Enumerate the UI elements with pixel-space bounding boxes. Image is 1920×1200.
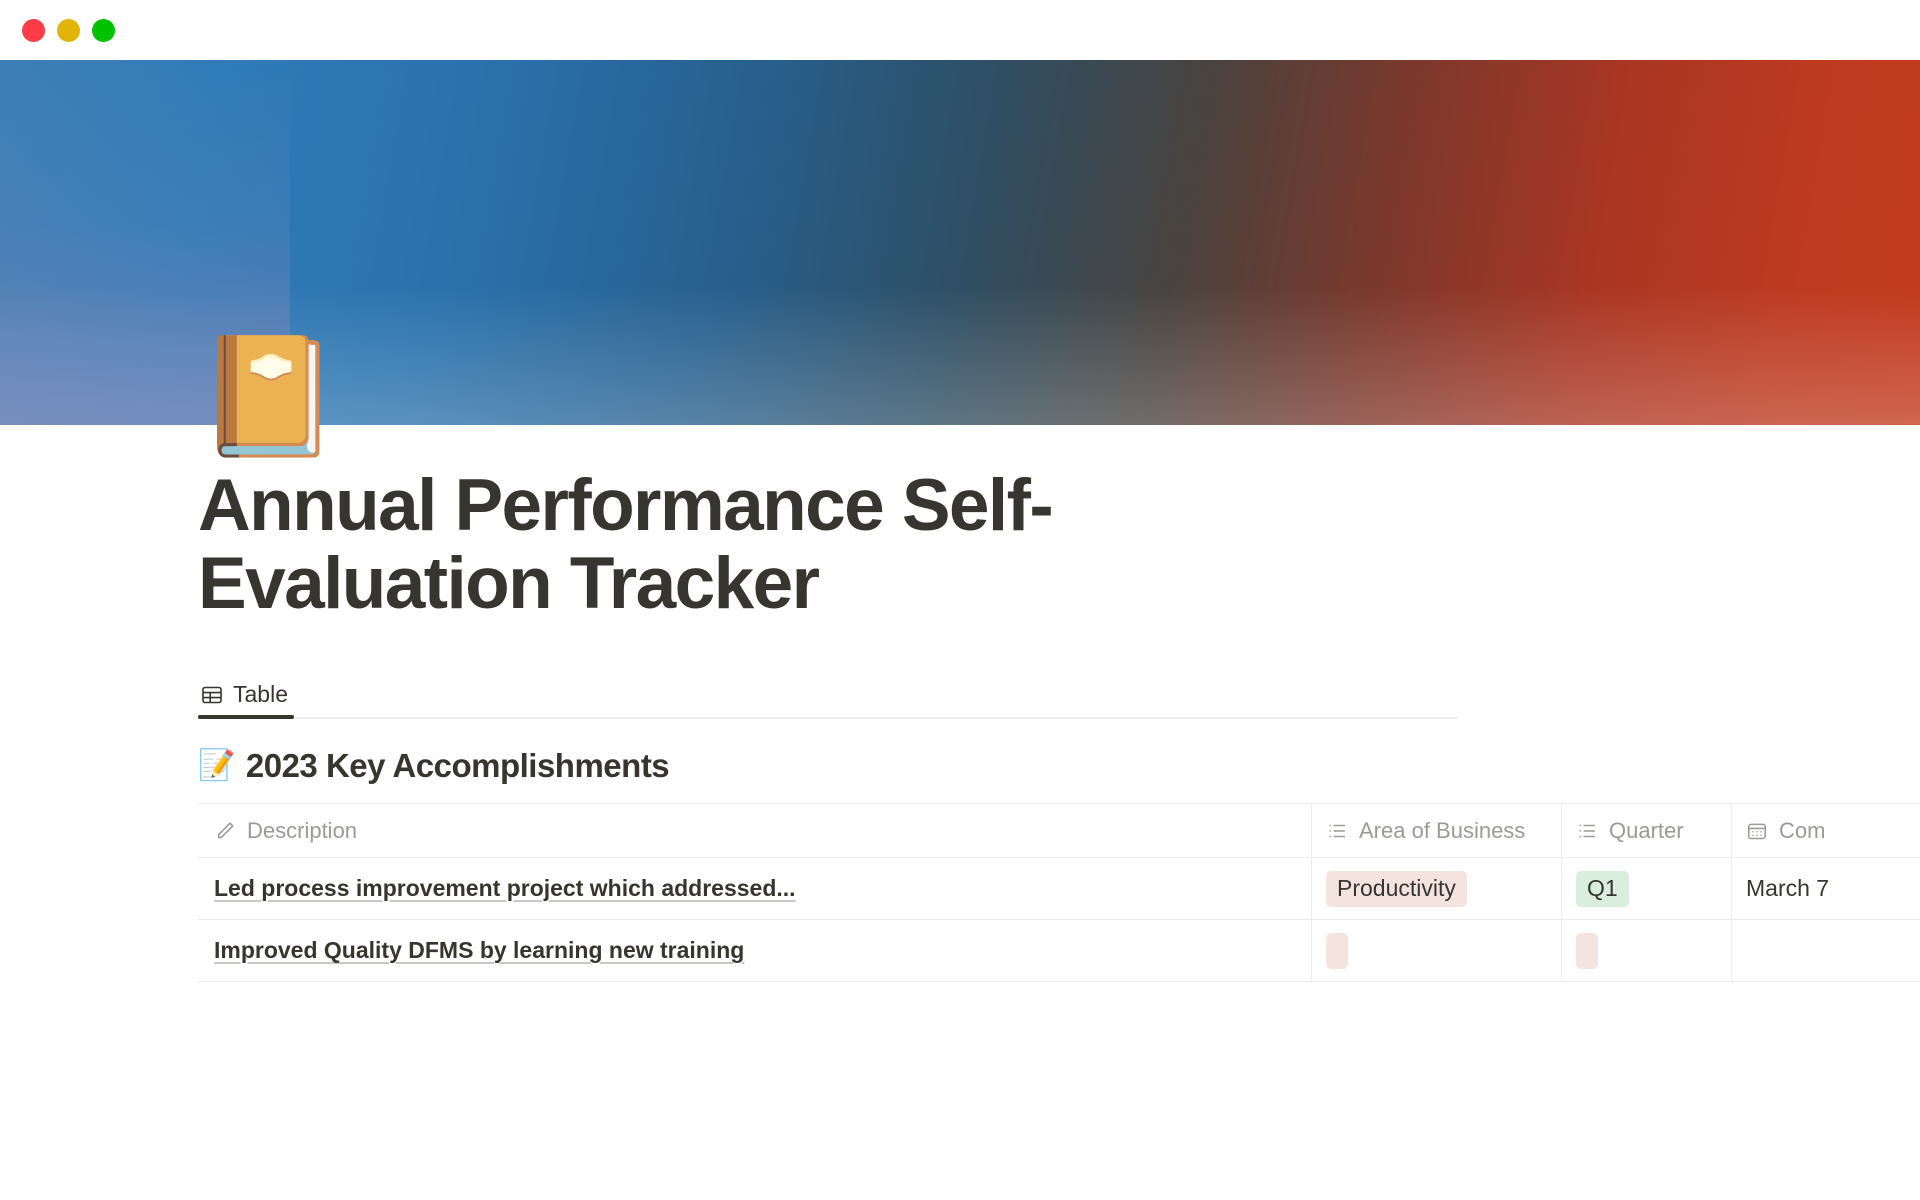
tab-table[interactable]: Table <box>198 681 294 719</box>
column-header-area-of-business[interactable]: Area of Business <box>1311 804 1561 857</box>
title-bar <box>0 0 1920 60</box>
table-grid: Description <box>198 803 1920 982</box>
app-window: 📔 Annual Performance Self-Evaluation Tra… <box>0 0 1920 1200</box>
page-title[interactable]: Annual Performance Self-Evaluation Track… <box>0 467 1500 623</box>
column-header-completed[interactable]: Com <box>1731 804 1920 857</box>
column-header-area-label: Area of Business <box>1359 818 1525 844</box>
cell-area-of-business[interactable] <box>1311 920 1561 981</box>
column-header-quarter-label: Quarter <box>1609 818 1684 844</box>
tab-table-label: Table <box>233 681 288 708</box>
database-title[interactable]: 📝 2023 Key Accomplishments <box>198 747 1920 785</box>
page-content: Annual Performance Self-Evaluation Track… <box>0 425 1920 982</box>
cell-completed[interactable] <box>1731 920 1920 981</box>
select-list-icon <box>1326 820 1348 842</box>
tag-quarter[interactable] <box>1576 933 1598 969</box>
view-tabs-row: Table <box>198 673 1722 719</box>
cell-quarter[interactable]: Q1 <box>1561 858 1731 919</box>
select-list-icon <box>1576 820 1598 842</box>
minimize-window-button[interactable] <box>57 19 80 42</box>
column-header-quarter[interactable]: Quarter <box>1561 804 1731 857</box>
row-title-link[interactable]: Improved Quality DFMS by learning new tr… <box>214 937 744 964</box>
tag-area-of-business[interactable]: Productivity <box>1326 871 1467 907</box>
cell-description[interactable]: Led process improvement project which ad… <box>198 858 1311 919</box>
tag-area-of-business[interactable] <box>1326 933 1348 969</box>
calendar-icon <box>1746 820 1768 842</box>
cell-area-of-business[interactable]: Productivity <box>1311 858 1561 919</box>
row-title-link[interactable]: Led process improvement project which ad… <box>214 875 796 902</box>
table-row[interactable]: Led process improvement project which ad… <box>198 858 1920 920</box>
table-row[interactable]: Improved Quality DFMS by learning new tr… <box>198 920 1920 982</box>
column-header-description-label: Description <box>247 818 357 844</box>
completed-date: March 7 <box>1746 875 1829 902</box>
memo-emoji: 📝 <box>198 751 235 781</box>
cell-description[interactable]: Improved Quality DFMS by learning new tr… <box>198 920 1311 981</box>
database-table-block: 📝 2023 Key Accomplishments Description <box>0 747 1920 982</box>
notebook-emoji[interactable]: 📔 <box>196 332 324 460</box>
pencil-icon <box>214 820 236 842</box>
column-header-completed-label: Com <box>1779 818 1825 844</box>
view-tabs-divider <box>198 717 1458 719</box>
table-header-row: Description <box>198 804 1920 858</box>
close-window-button[interactable] <box>22 19 45 42</box>
table-icon <box>200 683 224 707</box>
database-title-text: 2023 Key Accomplishments <box>246 747 669 785</box>
maximize-window-button[interactable] <box>92 19 115 42</box>
column-header-description[interactable]: Description <box>198 804 1311 857</box>
tag-quarter[interactable]: Q1 <box>1576 871 1629 907</box>
view-tab-bar: Table <box>0 673 1920 719</box>
traffic-light-group <box>22 19 115 42</box>
cell-quarter[interactable] <box>1561 920 1731 981</box>
cell-completed[interactable]: March 7 <box>1731 858 1920 919</box>
